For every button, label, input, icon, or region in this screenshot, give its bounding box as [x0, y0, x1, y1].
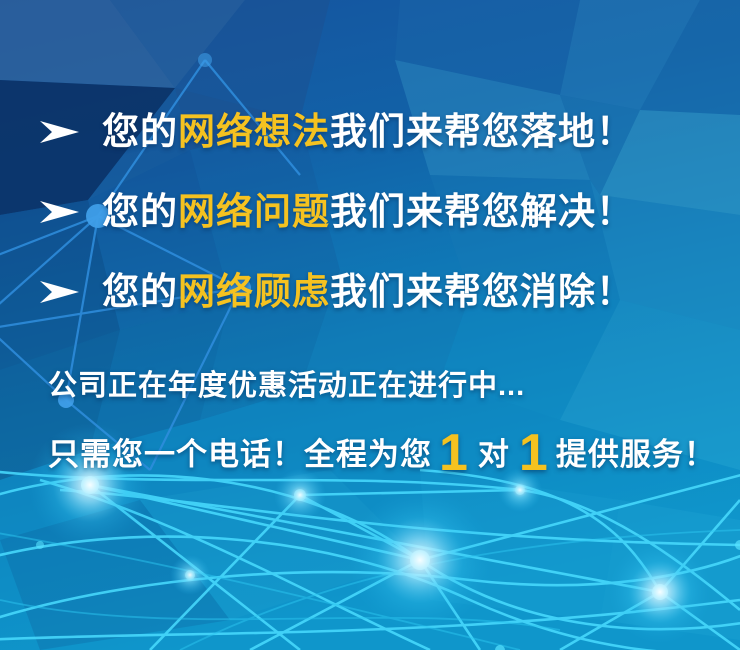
- bullet-prefix-2: 您的: [102, 191, 178, 232]
- bullet-prefix-3: 您的: [102, 271, 178, 312]
- bullet-highlight-3: 网络顾虑: [178, 271, 330, 312]
- bullet-suffix-1: 我们来帮您落地！: [330, 111, 634, 152]
- bullet-highlight-2: 网络问题: [178, 191, 330, 232]
- bullet-text-2: 您的网络问题我们来帮您解决！: [102, 186, 634, 238]
- bullet-row-1: 您的网络想法我们来帮您落地！: [38, 106, 634, 158]
- promo-banner: 您的网络想法我们来帮您落地！ 您的网络问题我们来帮您解决！ 您的网络顾虑我们来帮…: [0, 0, 740, 650]
- bullet-text-1: 您的网络想法我们来帮您落地！: [102, 106, 634, 158]
- bullet-text-3: 您的网络顾虑我们来帮您消除！: [102, 266, 634, 318]
- service-line: 只需您一个电话！全程为您 1 对 1 提供服务！: [48, 428, 716, 474]
- service-number-first: 1: [432, 433, 476, 475]
- arrow-right-icon: [38, 117, 82, 147]
- bullet-prefix-1: 您的: [102, 111, 178, 152]
- promo-line: 公司正在年度优惠活动正在进行中...: [48, 362, 525, 404]
- service-lead: 只需您一个电话！全程为您: [48, 429, 432, 474]
- bullet-row-2: 您的网络问题我们来帮您解决！: [38, 186, 634, 238]
- service-middle: 对: [476, 429, 512, 474]
- service-tail: 提供服务！: [556, 429, 716, 474]
- arrow-right-icon: [38, 197, 82, 227]
- bullet-suffix-2: 我们来帮您解决！: [330, 191, 634, 232]
- arrow-right-icon: [38, 277, 82, 307]
- bullet-suffix-3: 我们来帮您消除！: [330, 271, 634, 312]
- service-number-second: 1: [512, 433, 556, 475]
- bullet-row-3: 您的网络顾虑我们来帮您消除！: [38, 266, 634, 318]
- bullet-highlight-1: 网络想法: [178, 111, 330, 152]
- banner-content: 您的网络想法我们来帮您落地！ 您的网络问题我们来帮您解决！ 您的网络顾虑我们来帮…: [0, 0, 740, 650]
